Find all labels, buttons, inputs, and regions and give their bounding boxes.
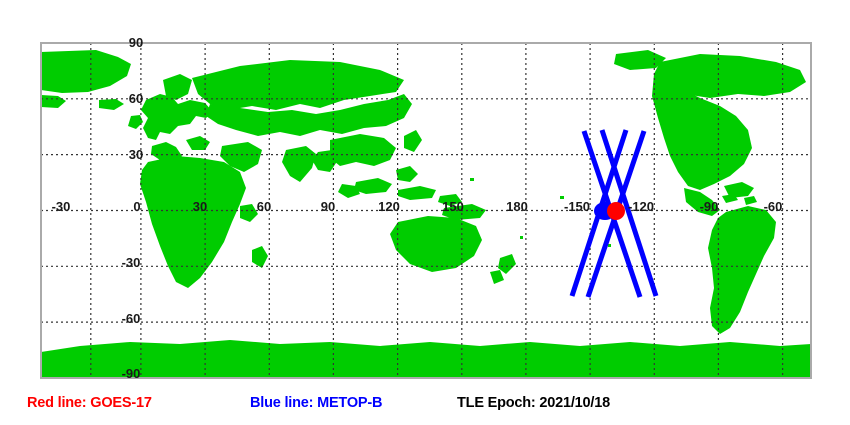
lon-tick-150: 150: [442, 199, 464, 214]
goes-17-marker: [607, 202, 625, 220]
lon-tick-60: 60: [257, 199, 271, 214]
lon-tick--150: -150: [564, 199, 590, 214]
lat-tick-60: 60: [129, 91, 143, 106]
lon-tick--60: -60: [764, 199, 783, 214]
lon-tick--30: -30: [52, 199, 71, 214]
world-map-plot: -30 0 30 60 90 120 150 180 -150 -120 -90…: [0, 0, 850, 425]
lon-tick--90: -90: [700, 199, 719, 214]
legend-tle-epoch: TLE Epoch: 2021/10/18: [457, 395, 610, 411]
lon-tick-30: 30: [193, 199, 207, 214]
legend-goes-17: Red line: GOES-17: [27, 395, 152, 411]
lon-tick-0: 0: [133, 199, 140, 214]
lon-tick-120: 120: [378, 199, 400, 214]
lon-tick--120: -120: [628, 199, 654, 214]
map-legend: Red line: GOES-17 Blue line: METOP-B TLE…: [0, 395, 850, 425]
lat-tick--60: -60: [122, 311, 141, 326]
lat-tick-30: 30: [129, 147, 143, 162]
lat-tick-90: 90: [129, 35, 143, 50]
satellite-ground-track-map: -30 0 30 60 90 120 150 180 -150 -120 -90…: [0, 0, 850, 425]
legend-metop-b: Blue line: METOP-B: [250, 395, 382, 411]
lat-tick--30: -30: [122, 255, 141, 270]
lon-tick-90: 90: [321, 199, 335, 214]
lon-tick-180: 180: [506, 199, 528, 214]
lat-tick--90: -90: [122, 366, 141, 381]
